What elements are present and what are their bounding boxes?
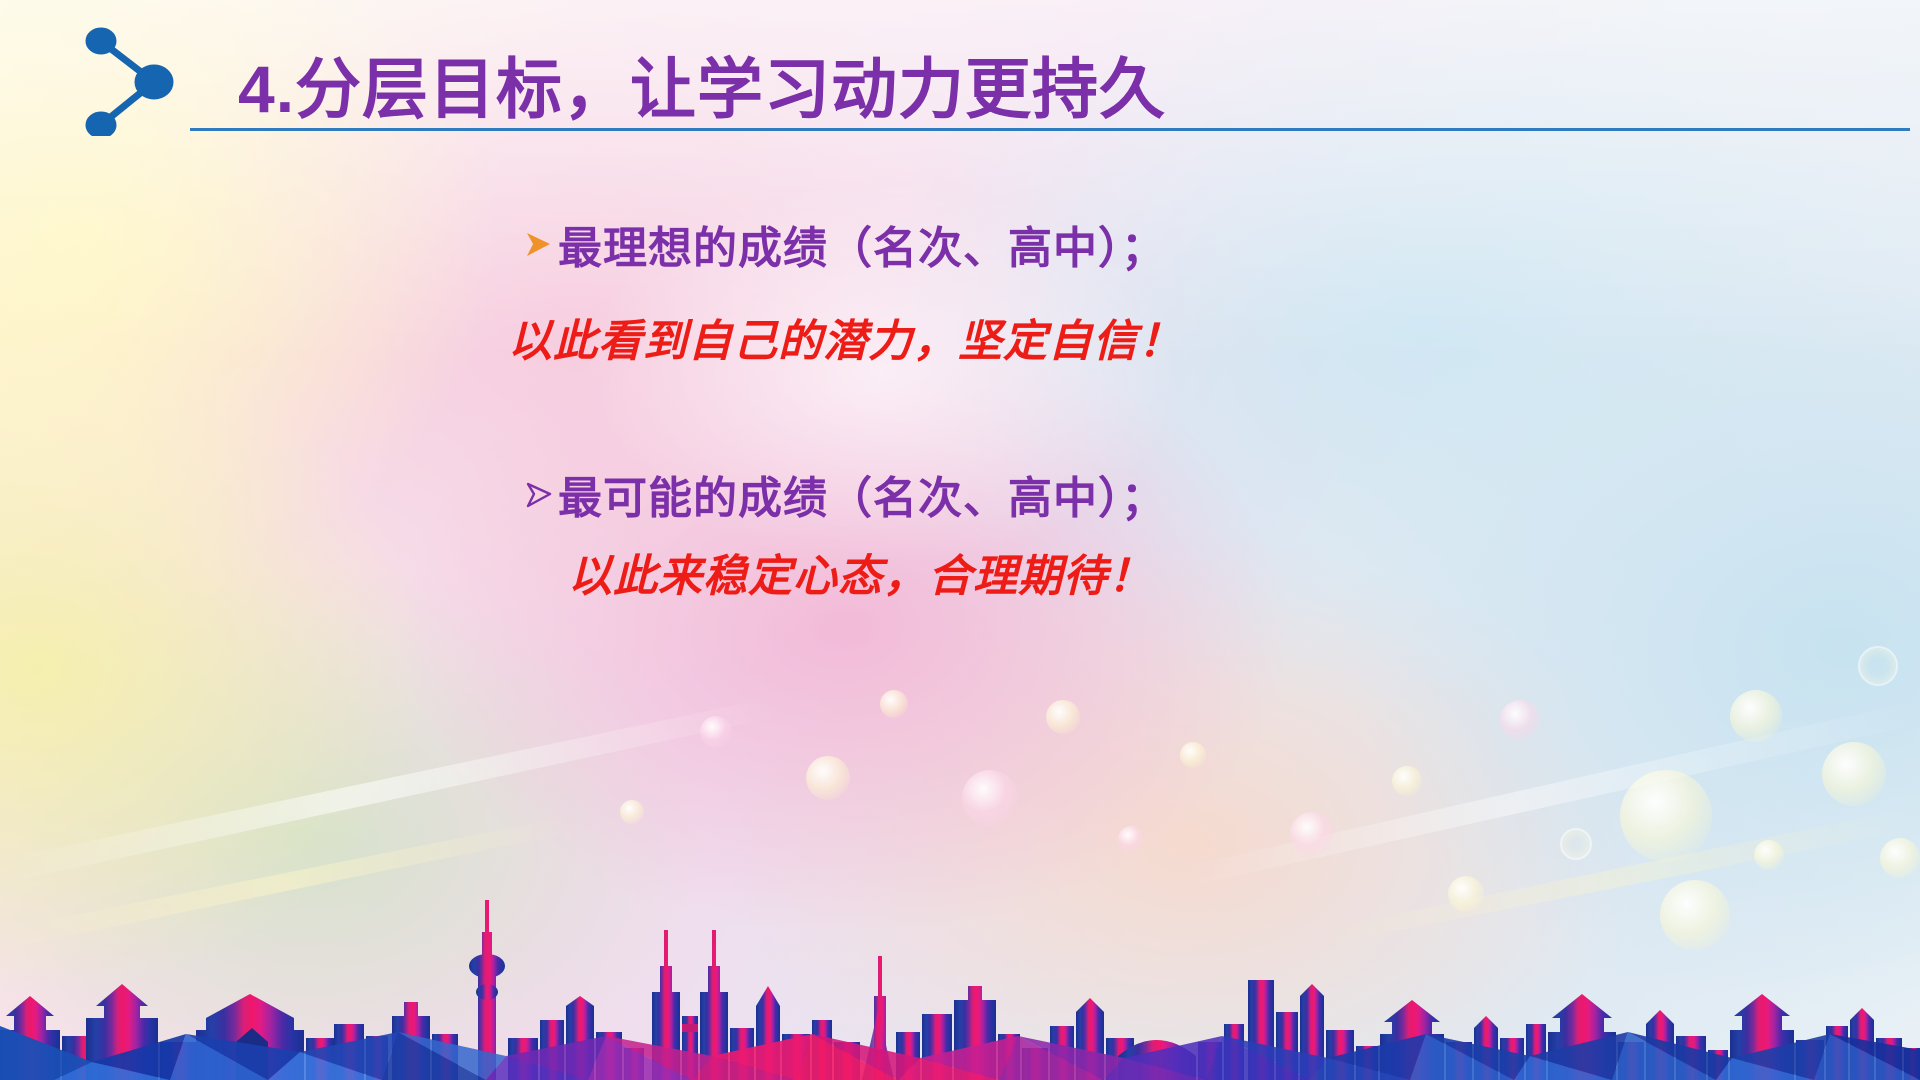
arrow-bullet-icon bbox=[518, 477, 558, 511]
bullet-item-1: 最理想的成绩（名次、高中）； bbox=[518, 212, 1166, 276]
slide-body: 最理想的成绩（名次、高中）； 以此看到自己的潜力，坚定自信！ 最可能的成绩（名次… bbox=[0, 0, 1920, 1080]
bullet-item-2-label: 最可能的成绩（名次、高中）； bbox=[558, 462, 1166, 526]
note-text-2: 以此来稳定心态，合理期待！ bbox=[568, 540, 1153, 604]
arrow-bullet-icon bbox=[518, 227, 558, 261]
bullet-item-1-label: 最理想的成绩（名次、高中）； bbox=[558, 212, 1166, 276]
bullet-item-2: 最可能的成绩（名次、高中）； bbox=[518, 462, 1166, 526]
note-text-1: 以此看到自己的潜力，坚定自信！ bbox=[508, 305, 1183, 369]
presentation-slide: 4.分层目标，让学习动力更持久 最理想的成绩（名次、高中）； 以此看到自己的潜力… bbox=[0, 0, 1920, 1080]
